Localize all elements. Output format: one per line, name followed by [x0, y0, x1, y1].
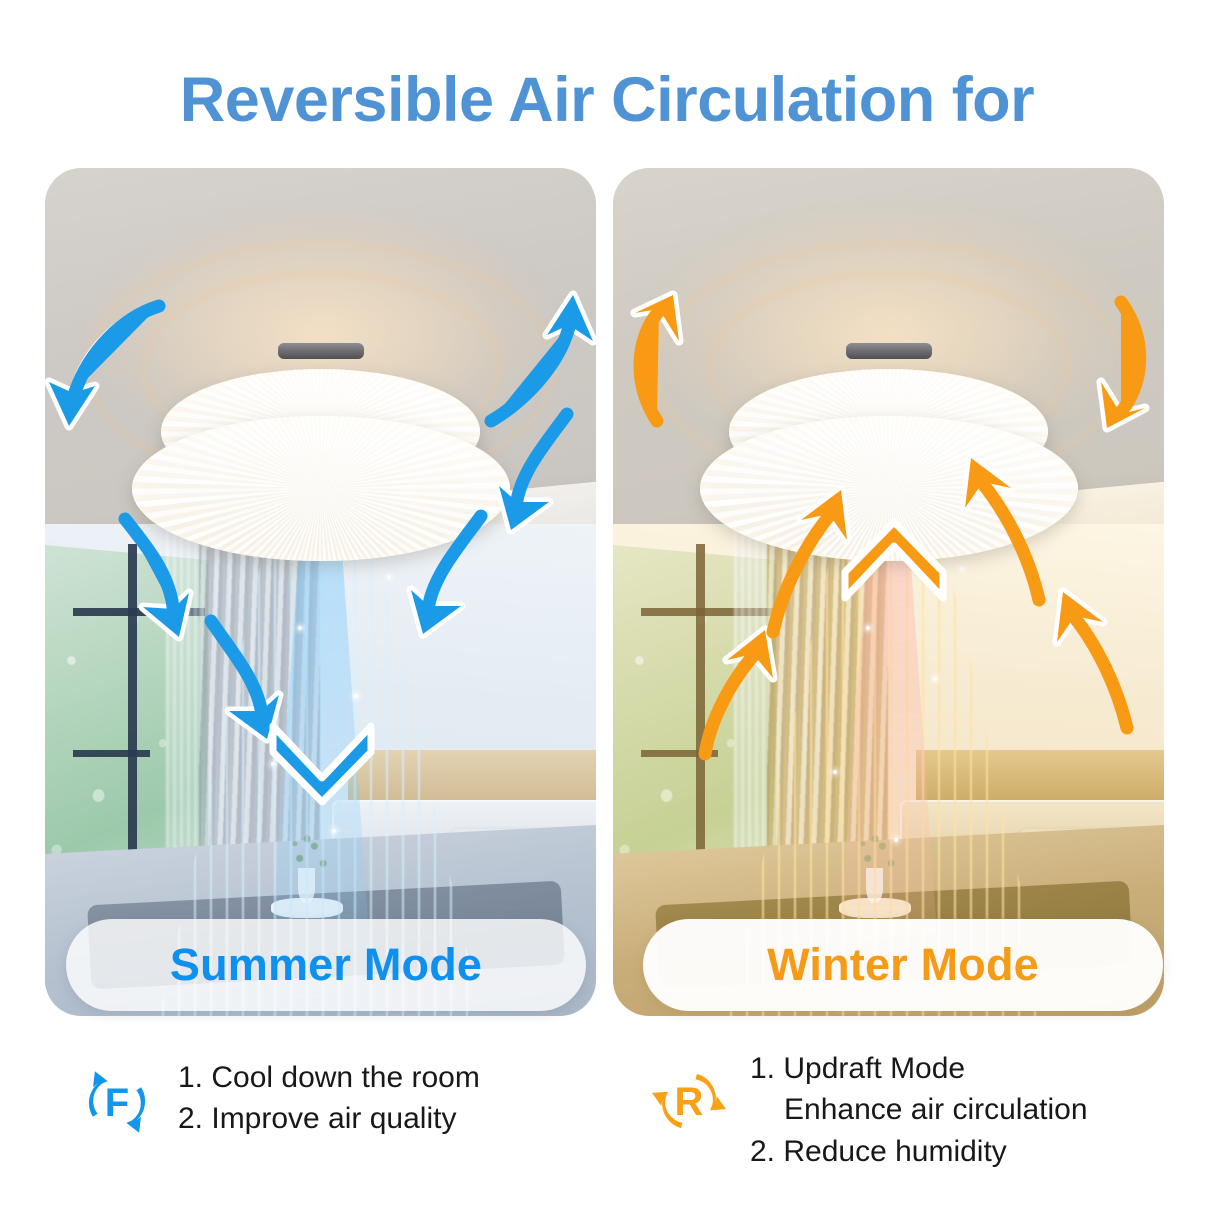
- crystal-texture: [132, 416, 510, 562]
- feature-block-winter: R 1. Updraft Mode Enhance air circulatio…: [650, 1048, 1088, 1172]
- forward-rotation-cycle-icon: F: [78, 1063, 156, 1141]
- crystal-texture: [700, 416, 1078, 562]
- feature-block-summer: F 1. Cool down the room 2. Improve air q…: [78, 1057, 480, 1141]
- mode-badge-winter-label: Winter Mode: [767, 939, 1039, 991]
- feature-text-summer: 1. Cool down the room 2. Improve air qua…: [178, 1057, 480, 1140]
- panel-winter-mode: [613, 168, 1164, 1016]
- window-mullion-horizontal: [641, 750, 718, 757]
- ceiling-fan-light-fixture: [111, 338, 531, 598]
- sparkle: [933, 677, 937, 681]
- feature-line: Enhance air circulation: [750, 1089, 1088, 1130]
- mode-badge-summer: Summer Mode: [66, 919, 586, 1011]
- feature-line: 1. Updraft Mode: [750, 1048, 1088, 1089]
- icon-letter: F: [105, 1081, 129, 1125]
- crystal-ring-lower: [132, 416, 510, 562]
- sparkle: [354, 694, 358, 698]
- fan-ceiling-mount: [278, 343, 364, 359]
- reverse-rotation-cycle-icon: R: [650, 1062, 728, 1140]
- panel-summer-mode: [45, 168, 596, 1016]
- feature-line: 2. Improve air quality: [178, 1098, 480, 1139]
- sparkle: [271, 762, 275, 766]
- fan-ceiling-mount: [846, 343, 932, 359]
- feature-line: 1. Cool down the room: [178, 1057, 480, 1098]
- icon-letter: R: [675, 1080, 704, 1124]
- mode-badge-summer-label: Summer Mode: [170, 939, 482, 991]
- sparkle: [894, 838, 898, 842]
- page-title: Reversible Air Circulation for: [0, 64, 1214, 136]
- feature-line: 2. Reduce humidity: [750, 1131, 1088, 1172]
- crystal-ring-lower: [700, 416, 1078, 562]
- product-infographic: Reversible Air Circulation for: [0, 0, 1214, 1214]
- mode-badge-winter: Winter Mode: [643, 919, 1163, 1011]
- feature-text-winter: 1. Updraft Mode Enhance air circulation …: [750, 1048, 1088, 1172]
- ceiling-fan-light-fixture: [679, 338, 1099, 598]
- window-mullion-horizontal: [73, 750, 150, 757]
